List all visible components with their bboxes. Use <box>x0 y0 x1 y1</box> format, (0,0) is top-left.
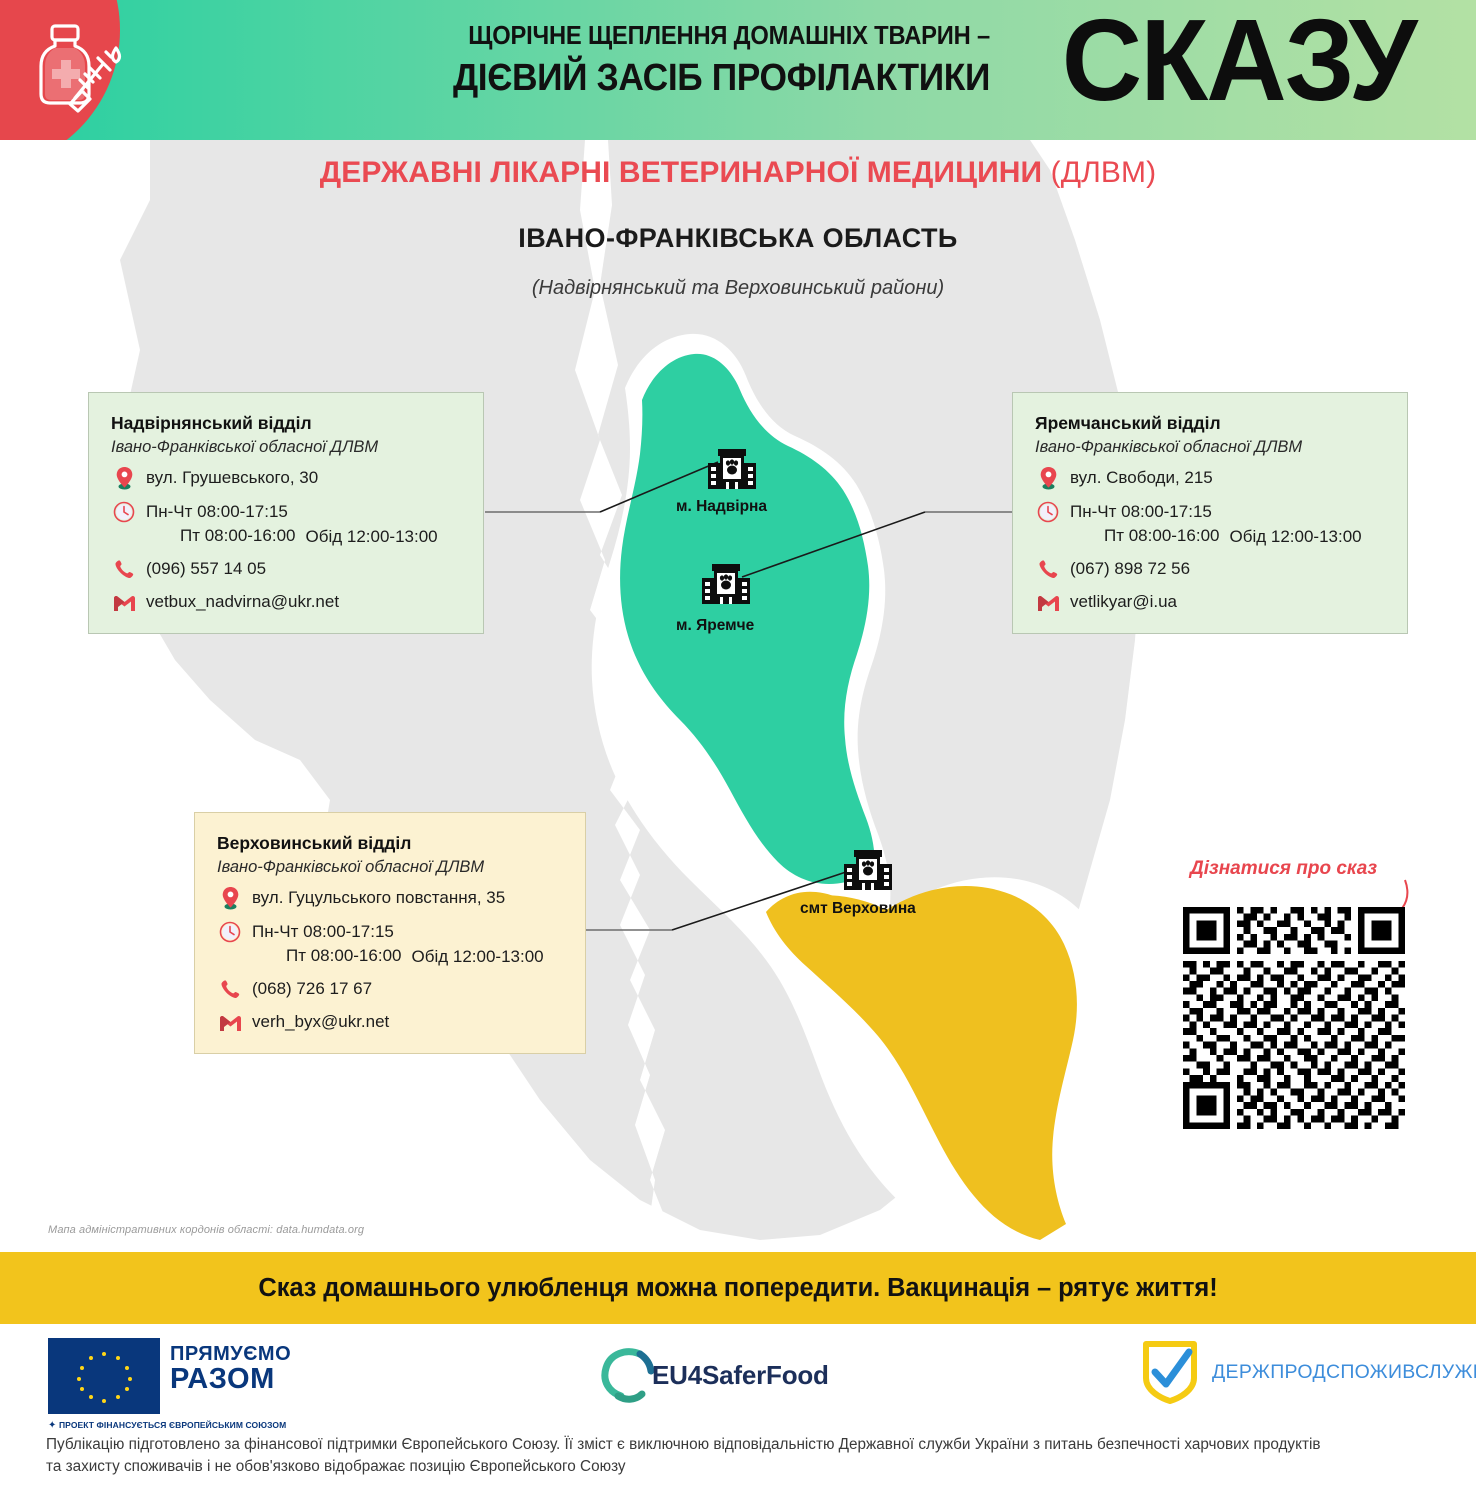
eu-word-1: ПРЯМУЄМО <box>170 1344 291 1364</box>
eu-logo: ПРЯМУЄМО РАЗОМ ✦ ПРОЕКТ ФІНАНСУЄТЬСЯ ЄВР… <box>48 1338 291 1414</box>
card-title: Яремчанський відділ <box>1035 413 1385 435</box>
address-row: вул. Грушевського, 30 <box>111 467 461 491</box>
lunch-text: Обід 12:00-13:00 <box>305 527 437 547</box>
saferfood-swirl-icon <box>596 1344 658 1406</box>
eu-word-2: РАЗОМ <box>170 1364 291 1394</box>
disclaimer-line-2: та захисту споживачів і не обов'язково в… <box>46 1456 1436 1478</box>
hours-line-1: Пн-Чт 08:00-17:15 <box>1070 502 1212 521</box>
derzh-wordmark: ДЕРЖПРОДСПОЖИВСЛУЖБА <box>1212 1361 1476 1384</box>
clinic-building-paw-icon <box>842 846 894 898</box>
phone-row: (067) 898 72 56 <box>1035 558 1385 582</box>
email-icon <box>1035 591 1061 615</box>
clinic-building-paw-icon <box>700 560 752 612</box>
card-subtitle: Івано-Франківської обласної ДЛВМ <box>1035 437 1385 458</box>
districts-subtitle: (Надвірнянський та Верховинський райони) <box>0 277 1476 300</box>
city-label-verkhovyna: смт Верховина <box>800 900 916 918</box>
phone-text: (067) 898 72 56 <box>1070 558 1190 580</box>
derzhprodspozhyvsluzhba-logo: ДЕРЖПРОДСПОЖИВСЛУЖБА <box>1142 1340 1476 1404</box>
disclaimer: Публікацію підготовлено за фінансової пі… <box>46 1434 1436 1478</box>
location-pin-icon <box>1035 467 1061 491</box>
lunch-text: Обід 12:00-13:00 <box>411 947 543 967</box>
email-icon <box>217 1011 243 1035</box>
clock-icon <box>217 920 243 944</box>
banner-text: Сказ домашнього улюбленця можна попереди… <box>258 1274 1217 1303</box>
hours-line-2: Пт 08:00-16:00 <box>1070 524 1219 549</box>
page-title-abbrev: (ДЛВМ) <box>1051 156 1157 189</box>
hours-row: Пн-Чт 08:00-17:15 Пт 08:00-16:00 Обід 12… <box>111 500 461 549</box>
location-pin-icon <box>217 887 243 911</box>
eu-flag-icon <box>48 1338 160 1414</box>
infographic-root: ЩОРІЧНЕ ЩЕПЛЕННЯ ДОМАШНІХ ТВАРИН – ДІЄВИ… <box>0 0 1476 1492</box>
email-row: verh_byx@ukr.net <box>217 1011 563 1035</box>
hours-line-2: Пт 08:00-16:00 <box>252 944 401 969</box>
address-row: вул. Свободи, 215 <box>1035 467 1385 491</box>
hours-line-2: Пт 08:00-16:00 <box>146 524 295 549</box>
qr-code-image[interactable] <box>1183 907 1405 1129</box>
saferfood-wordmark: EU4SaferFood <box>652 1360 829 1391</box>
header-title-group: ЩОРІЧНЕ ЩЕПЛЕННЯ ДОМАШНІХ ТВАРИН – ДІЄВИ… <box>180 22 990 100</box>
card-title: Верховинський відділ <box>217 833 563 855</box>
card-subtitle: Івано-Франківської обласної ДЛВМ <box>111 437 461 458</box>
address-row: вул. Гуцульського повстання, 35 <box>217 887 563 911</box>
hours-line-1: Пн-Чт 08:00-17:15 <box>146 502 288 521</box>
page-title: ДЕРЖАВНІ ЛІКАРНІ ВЕТЕРИНАРНОЇ МЕДИЦИНИ (… <box>0 155 1476 191</box>
info-card-verkhovyna[interactable]: Верховинський відділ Івано-Франківської … <box>194 812 586 1054</box>
info-card-yaremche[interactable]: Яремчанський відділ Івано-Франківської о… <box>1012 392 1408 634</box>
info-card-nadvirna[interactable]: Надвірнянський відділ Івано-Франківської… <box>88 392 484 634</box>
address-text: вул. Грушевського, 30 <box>146 467 318 489</box>
clock-icon <box>1035 500 1061 524</box>
clinic-building-paw-icon <box>706 445 758 497</box>
hours-line-1: Пн-Чт 08:00-17:15 <box>252 922 394 941</box>
email-text: verh_byx@ukr.net <box>252 1011 389 1033</box>
logo-row: ПРЯМУЄМО РАЗОМ ✦ ПРОЕКТ ФІНАНСУЄТЬСЯ ЄВР… <box>0 1324 1476 1424</box>
lunch-text: Обід 12:00-13:00 <box>1229 527 1361 547</box>
card-subtitle: Івано-Франківської обласної ДЛВМ <box>217 857 563 878</box>
phone-row: (096) 557 14 05 <box>111 558 461 582</box>
eu-fine-print: ✦ ПРОЕКТ ФІНАНСУЄТЬСЯ ЄВРОПЕЙСЬКИМ СОЮЗО… <box>48 1420 286 1431</box>
city-label-yaremche: м. Яремче <box>676 617 754 635</box>
email-icon <box>111 591 137 615</box>
hours-row: Пн-Чт 08:00-17:15 Пт 08:00-16:00 Обід 12… <box>1035 500 1385 549</box>
card-title: Надвірнянський відділ <box>111 413 461 435</box>
phone-text: (068) 726 17 67 <box>252 978 372 1000</box>
phone-row: (068) 726 17 67 <box>217 978 563 1002</box>
eu4saferfood-logo: EU4SaferFood <box>596 1344 829 1406</box>
email-text: vetlikyar@i.ua <box>1070 591 1177 613</box>
email-row: vetlikyar@i.ua <box>1035 591 1385 615</box>
header-headline-word: СКАЗУ <box>1062 2 1416 118</box>
phone-icon <box>111 558 137 582</box>
header-line-2: ДІЄВИЙ ЗАСІБ ПРОФІЛАКТИКИ <box>237 57 990 101</box>
address-text: вул. Гуцульського повстання, 35 <box>252 887 505 909</box>
city-label-nadvirna: м. Надвірна <box>676 498 767 516</box>
title-block: ДЕРЖАВНІ ЛІКАРНІ ВЕТЕРИНАРНОЇ МЕДИЦИНИ (… <box>0 155 1476 300</box>
page-header: ЩОРІЧНЕ ЩЕПЛЕННЯ ДОМАШНІХ ТВАРИН – ДІЄВИ… <box>0 0 1476 140</box>
address-text: вул. Свободи, 215 <box>1070 467 1213 489</box>
phone-text: (096) 557 14 05 <box>146 558 266 580</box>
eu-fine-print-text: ПРОЕКТ ФІНАНСУЄТЬСЯ ЄВРОПЕЙСЬКИМ СОЮЗОМ <box>59 1420 286 1430</box>
shield-check-icon <box>1142 1340 1198 1404</box>
hours-row: Пн-Чт 08:00-17:15 Пт 08:00-16:00 Обід 12… <box>217 920 563 969</box>
map-source-note: Мапа адміністративних кордонів області: … <box>48 1224 364 1236</box>
location-pin-icon <box>111 467 137 491</box>
hours-lines: Пн-Чт 08:00-17:15 Пт 08:00-16:00 <box>252 920 401 969</box>
email-row: vetbux_nadvirna@ukr.net <box>111 591 461 615</box>
bottom-banner: Сказ домашнього улюбленця можна попереди… <box>0 1252 1476 1324</box>
clock-icon <box>111 500 137 524</box>
header-line-1: ЩОРІЧНЕ ЩЕПЛЕННЯ ДОМАШНІХ ТВАРИН – <box>237 22 990 51</box>
phone-icon <box>1035 558 1061 582</box>
phone-icon <box>217 978 243 1002</box>
hours-lines: Пн-Чт 08:00-17:15 Пт 08:00-16:00 <box>146 500 295 549</box>
hours-lines: Пн-Чт 08:00-17:15 Пт 08:00-16:00 <box>1070 500 1219 549</box>
disclaimer-line-1: Публікацію підготовлено за фінансової пі… <box>46 1434 1436 1456</box>
region-title: ІВАНО-ФРАНКІВСЬКА ОБЛАСТЬ <box>0 223 1476 254</box>
eu-logo-words: ПРЯМУЄМО РАЗОМ <box>170 1338 291 1394</box>
vaccine-bottle-syringe-icon <box>28 18 124 118</box>
page-title-bold: ДЕРЖАВНІ ЛІКАРНІ ВЕТЕРИНАРНОЇ МЕДИЦИНИ <box>320 156 1042 189</box>
email-text: vetbux_nadvirna@ukr.net <box>146 591 339 613</box>
